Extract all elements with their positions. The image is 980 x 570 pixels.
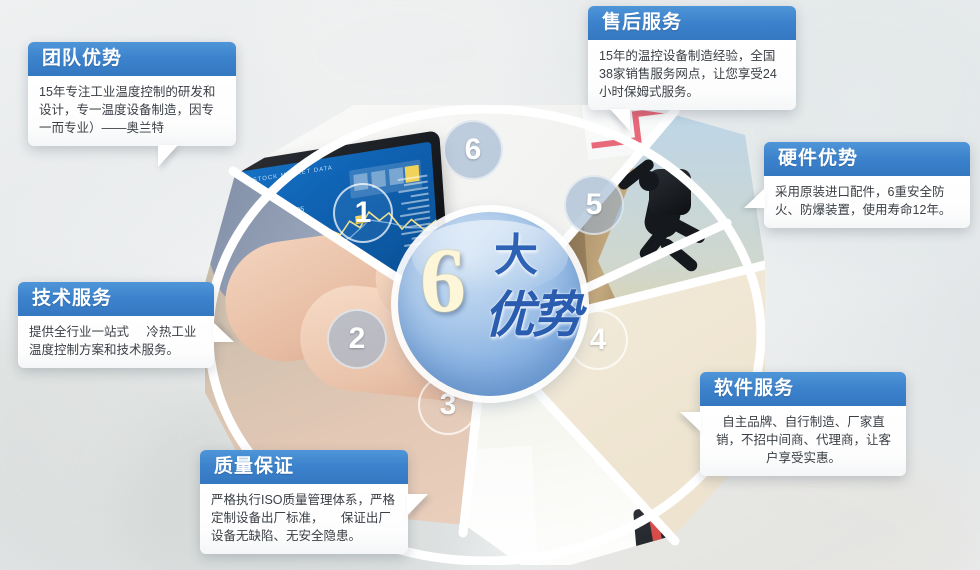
card-after-sales[interactable]: 售后服务 15年的温控设备制造经验，全国38家销售服务网点，让您享受24小时保姆…: [588, 6, 796, 110]
center-character-da: 大: [494, 234, 538, 278]
card-software-title: 软件服务: [700, 372, 906, 406]
tablet-screen-title: STOCK MARKET DATA: [253, 165, 333, 184]
infographic-root: STOCK MARKET DATA INTC 440.95: [0, 0, 980, 570]
card-team-pointer: [158, 145, 178, 167]
card-after-sales-title: 售后服务: [588, 6, 796, 40]
card-after-sales-body: 15年的温控设备制造经验，全国38家销售服务网点，让您享受24小时保姆式服务。: [588, 40, 796, 110]
card-team-advantage[interactable]: 团队优势 15年专注工业温度控制的研发和设计，专一温度设备制造，因专一而专业）—…: [28, 42, 236, 146]
card-hardware-title: 硬件优势: [764, 142, 970, 176]
card-team-body: 15年专注工业温度控制的研发和设计，专一温度设备制造，因专一而专业）——奥兰特: [28, 76, 236, 146]
segment-badge-5[interactable]: 5: [564, 175, 624, 235]
card-technical-pointer: [213, 322, 234, 342]
card-quality-assurance[interactable]: 质量保证 严格执行ISO质量管理体系，严格定制设备出厂标准， 保证出厂设备无缺陷…: [200, 450, 408, 554]
card-software-pointer: [680, 412, 701, 432]
segment-badge-2[interactable]: 2: [327, 309, 387, 369]
segment-badge-6[interactable]: 6: [443, 120, 503, 180]
card-team-title: 团队优势: [28, 42, 236, 76]
card-after-sales-pointer: [610, 109, 630, 131]
card-hardware-pointer: [744, 188, 765, 208]
card-quality-title: 质量保证: [200, 450, 408, 484]
card-quality-pointer: [407, 494, 428, 516]
center-medallion[interactable]: 6 大 优势: [398, 212, 582, 396]
card-hardware-body: 采用原装进口配件，6重安全防火、防爆装置，使用寿命12年。: [764, 176, 970, 228]
card-software-service[interactable]: 软件服务 自主品牌、自行制造、厂家直销，不招中间商、代理商，让客户享受实惠。: [700, 372, 906, 476]
center-number-6: 6: [420, 234, 466, 326]
card-technical-body: 提供全行业一站式 冷热工业温度控制方案和技术服务。: [18, 316, 214, 368]
card-quality-body: 严格执行ISO质量管理体系，严格定制设备出厂标准， 保证出厂设备无缺陷、无安全隐…: [200, 484, 408, 554]
card-technical-service[interactable]: 技术服务 提供全行业一站式 冷热工业温度控制方案和技术服务。: [18, 282, 214, 368]
segment-badge-1[interactable]: 1: [333, 183, 393, 243]
card-technical-title: 技术服务: [18, 282, 214, 316]
card-software-body: 自主品牌、自行制造、厂家直销，不招中间商、代理商，让客户享受实惠。: [700, 406, 906, 476]
center-word-youshi: 优势: [484, 290, 580, 340]
card-hardware-advantage[interactable]: 硬件优势 采用原装进口配件，6重安全防火、防爆装置，使用寿命12年。: [764, 142, 970, 228]
